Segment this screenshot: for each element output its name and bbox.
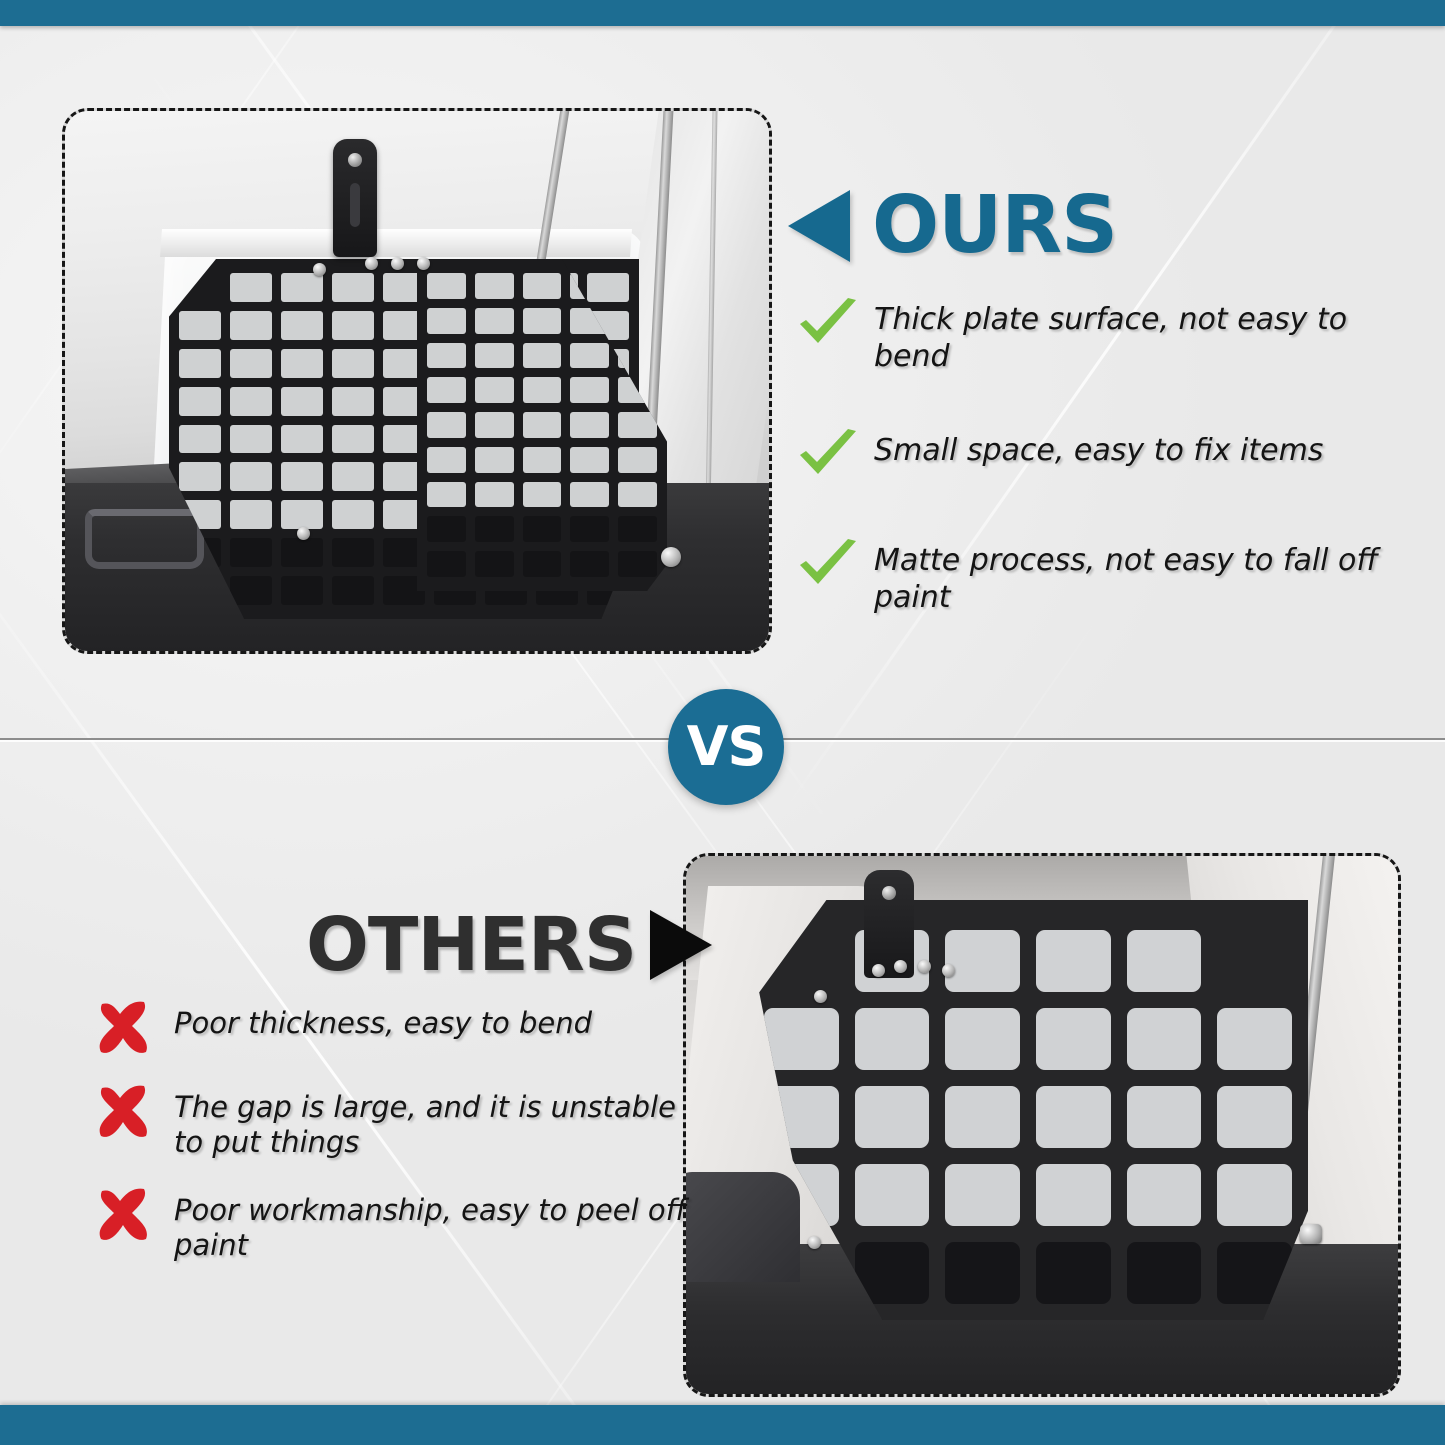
bottom-brand-bar <box>0 1405 1445 1445</box>
molle-slot <box>230 273 272 302</box>
molle-slot <box>523 551 562 577</box>
molle-slot <box>1217 1086 1292 1148</box>
ours-benefit-list: Thick plate surface, not easy to bend Sm… <box>796 296 1416 668</box>
arrow-left-icon <box>788 190 850 262</box>
molle-slot <box>427 273 466 299</box>
molle-slot <box>945 930 1020 992</box>
molle-slot <box>1127 1008 1202 1070</box>
bolt-icon <box>894 960 907 973</box>
cross-icon <box>96 1187 160 1245</box>
bolt-icon <box>391 257 404 270</box>
molle-slot <box>179 425 221 454</box>
molle-slot <box>570 412 609 438</box>
rear-seat <box>686 1172 800 1282</box>
molle-slot <box>523 447 562 473</box>
molle-slot <box>618 516 657 542</box>
others-product-photo <box>683 853 1401 1397</box>
molle-slot <box>427 308 466 334</box>
bolt-icon <box>942 964 955 977</box>
bolt-icon <box>313 263 326 276</box>
molle-slot <box>230 500 272 529</box>
molle-slot <box>281 425 323 454</box>
molle-slot <box>230 311 272 340</box>
others-drawback-list: Poor thickness, easy to bend The gap is … <box>96 1000 696 1290</box>
molle-slot <box>618 447 657 473</box>
molle-slot <box>523 412 562 438</box>
molle-slot <box>281 462 323 491</box>
molle-slot <box>230 462 272 491</box>
molle-slot <box>523 308 562 334</box>
check-icon <box>796 296 860 354</box>
molle-slot <box>475 412 514 438</box>
others-title: OTHERS <box>306 908 636 982</box>
molle-slot <box>1036 1008 1111 1070</box>
cross-icon <box>96 1000 160 1058</box>
arrow-right-icon <box>650 910 712 980</box>
comparison-poster: OURS Thick plate surface, not easy to be… <box>0 0 1445 1445</box>
list-item: Poor workmanship, easy to peel off paint <box>96 1187 696 1264</box>
bolt-icon <box>297 527 310 540</box>
molle-slot <box>570 516 609 542</box>
molle-slot <box>427 447 466 473</box>
molle-slot <box>523 377 562 403</box>
molle-slot <box>179 387 221 416</box>
bolt-icon <box>365 257 378 270</box>
bolt-icon <box>417 257 430 270</box>
top-brand-bar <box>0 0 1445 26</box>
list-item: Thick plate surface, not easy to bend <box>796 296 1416 375</box>
molle-slot <box>1127 1086 1202 1148</box>
molle-slot <box>281 349 323 378</box>
molle-slot <box>281 387 323 416</box>
molle-slot <box>332 576 374 605</box>
molle-slot <box>570 482 609 508</box>
list-item-label: Poor thickness, easy to bend <box>174 1000 592 1041</box>
check-icon <box>796 427 860 485</box>
molle-slot <box>230 538 272 567</box>
molle-slot <box>1036 1242 1111 1304</box>
molle-slot <box>475 516 514 542</box>
molle-slot <box>332 349 374 378</box>
molle-slot <box>179 311 221 340</box>
molle-slot <box>1127 1242 1202 1304</box>
molle-slot <box>427 516 466 542</box>
molle-slot <box>281 538 323 567</box>
molle-slot <box>332 387 374 416</box>
molle-slot <box>281 273 323 302</box>
check-icon <box>796 537 860 595</box>
list-item-label: Poor workmanship, easy to peel off paint <box>174 1187 696 1264</box>
list-item-label: Matte process, not easy to fall off pain… <box>874 537 1416 616</box>
molle-slot <box>332 462 374 491</box>
ours-header: OURS <box>788 186 1117 265</box>
molle-slot <box>475 377 514 403</box>
molle-slot <box>523 482 562 508</box>
list-item-label: Small space, easy to fix items <box>874 427 1323 470</box>
molle-slot <box>1036 1086 1111 1148</box>
molle-slot <box>523 516 562 542</box>
molle-slot <box>945 1164 1020 1226</box>
molle-slot <box>230 349 272 378</box>
molle-slot <box>475 447 514 473</box>
molle-slot <box>427 412 466 438</box>
molle-slot <box>945 1242 1020 1304</box>
molle-slot <box>570 551 609 577</box>
cross-icon <box>96 1084 160 1142</box>
bolt-icon <box>1300 1224 1322 1244</box>
molle-slot <box>281 311 323 340</box>
molle-slot <box>1127 1164 1202 1226</box>
molle-slot <box>475 343 514 369</box>
molle-slot <box>332 311 374 340</box>
molle-slot <box>1036 1164 1111 1226</box>
list-item: Poor thickness, easy to bend <box>96 1000 696 1058</box>
molle-slot <box>332 500 374 529</box>
list-item-label: Thick plate surface, not easy to bend <box>874 296 1416 375</box>
molle-slot <box>1036 930 1111 992</box>
versus-badge: VS <box>668 689 784 805</box>
ours-scene <box>65 111 769 651</box>
molle-slot <box>855 1164 930 1226</box>
molle-slot <box>1217 1008 1292 1070</box>
molle-slot <box>332 538 374 567</box>
list-item: The gap is large, and it is unstable to … <box>96 1084 696 1161</box>
molle-slot <box>587 273 629 302</box>
molle-slot <box>475 273 514 299</box>
molle-slot <box>523 273 562 299</box>
molle-slot <box>570 447 609 473</box>
molle-slot <box>230 576 272 605</box>
ours-product-photo <box>62 108 772 654</box>
molle-slot <box>1217 930 1292 992</box>
molle-slot <box>427 551 466 577</box>
molle-slot <box>618 551 657 577</box>
window-trim <box>160 229 632 257</box>
molle-slot <box>230 387 272 416</box>
molle-slot <box>570 377 609 403</box>
molle-slot <box>179 462 221 491</box>
bolt-icon <box>661 547 681 567</box>
molle-slot <box>281 500 323 529</box>
bolt-icon <box>808 1236 821 1249</box>
ours-title: OURS <box>872 186 1117 265</box>
bolt-icon <box>814 990 827 1003</box>
list-item-label: The gap is large, and it is unstable to … <box>174 1084 696 1161</box>
molle-slot <box>427 343 466 369</box>
molle-slot <box>523 343 562 369</box>
others-scene <box>686 856 1398 1394</box>
molle-slot <box>764 1008 839 1070</box>
mounting-bracket <box>333 139 377 257</box>
molle-slot <box>475 482 514 508</box>
list-item: Small space, easy to fix items <box>796 427 1416 485</box>
molle-slot <box>427 482 466 508</box>
molle-slot <box>945 1086 1020 1148</box>
molle-slot <box>281 576 323 605</box>
molle-slot <box>618 482 657 508</box>
molle-slot <box>427 377 466 403</box>
bolt-icon <box>872 964 885 977</box>
molle-slot <box>230 425 272 454</box>
molle-slot <box>332 273 374 302</box>
bolt-icon <box>918 960 931 973</box>
mounting-bracket <box>864 870 914 978</box>
molle-slot <box>1127 930 1202 992</box>
molle-slot <box>945 1008 1020 1070</box>
molle-slot <box>1217 1164 1292 1226</box>
grab-handle <box>85 509 204 569</box>
molle-slot <box>570 343 609 369</box>
molle-slot <box>855 1008 930 1070</box>
molle-slot <box>618 412 657 438</box>
molle-slot <box>179 349 221 378</box>
molle-slot <box>475 551 514 577</box>
list-item: Matte process, not easy to fall off pain… <box>796 537 1416 616</box>
molle-slot <box>475 308 514 334</box>
molle-slot <box>855 1086 930 1148</box>
molle-slot <box>332 425 374 454</box>
versus-label: VS <box>687 720 766 774</box>
others-header: OTHERS <box>306 908 712 982</box>
